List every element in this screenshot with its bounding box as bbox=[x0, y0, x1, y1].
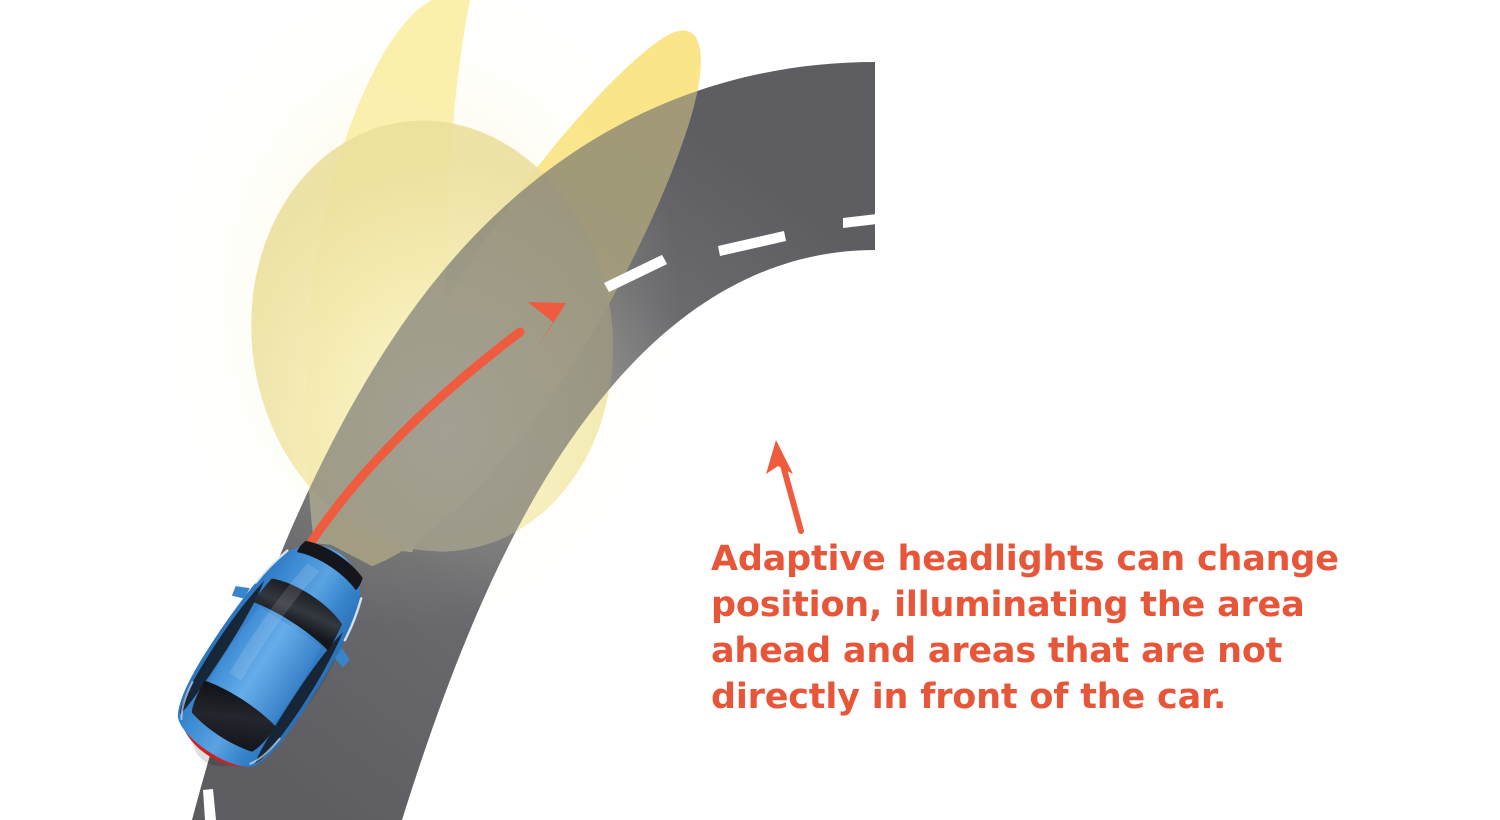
caption-text: Adaptive headlights can change position,… bbox=[711, 536, 1371, 720]
illustration-canvas: Adaptive headlights can change position,… bbox=[0, 0, 1500, 820]
caption-pointer-arrow bbox=[766, 440, 801, 531]
caption-pointer-arrow-head bbox=[766, 440, 793, 474]
